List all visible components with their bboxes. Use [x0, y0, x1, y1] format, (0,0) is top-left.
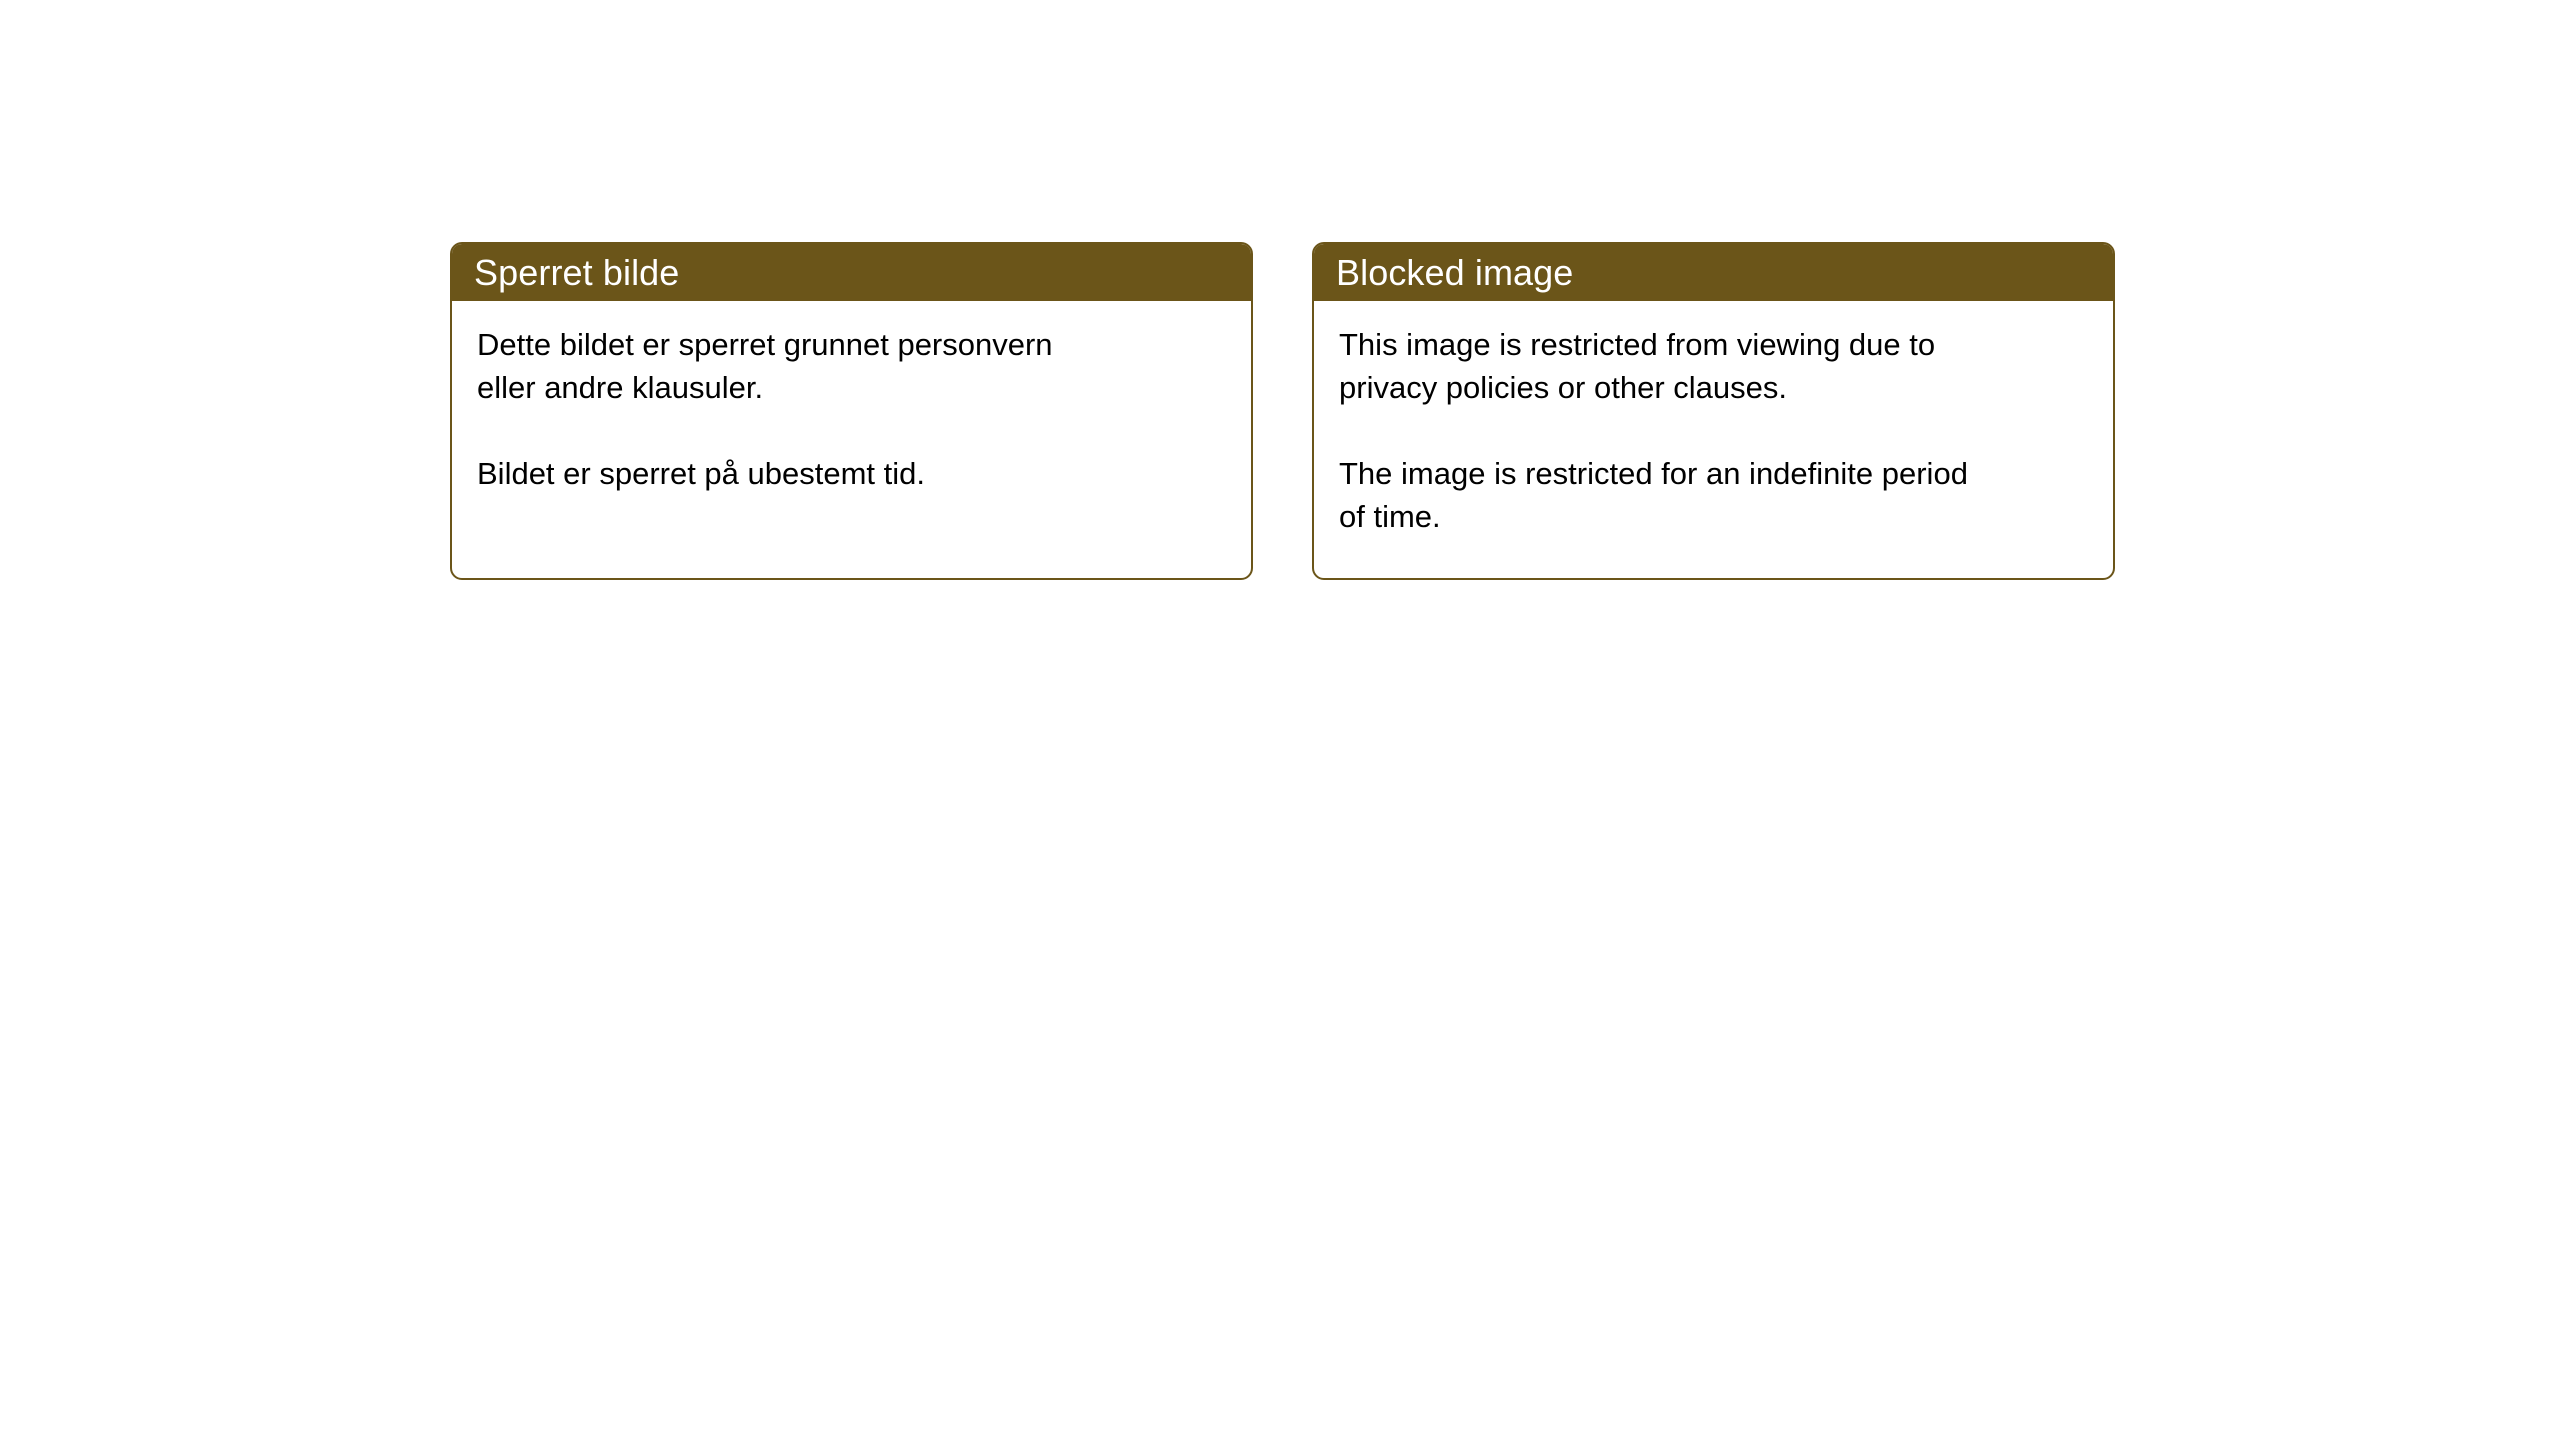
- paragraph-spacer-en: [1339, 409, 2087, 452]
- notice-title-no: Sperret bilde: [474, 255, 679, 291]
- paragraph-spacer-no: [477, 409, 1225, 452]
- page-canvas: Sperret bilde Dette bildet er sperret gr…: [0, 0, 2560, 1440]
- blocked-image-notice-no: Sperret bilde Dette bildet er sperret gr…: [450, 242, 1253, 580]
- notice-paragraph-duration-en: The image is restricted for an indefinit…: [1339, 452, 2087, 538]
- notice-body-no: Dette bildet er sperret grunnet personve…: [452, 301, 1251, 495]
- notice-paragraph-duration-no: Bildet er sperret på ubestemt tid.: [477, 452, 1225, 495]
- notice-body-en: This image is restricted from viewing du…: [1314, 301, 2113, 538]
- notice-title-en: Blocked image: [1336, 255, 1573, 291]
- notice-header-no: Sperret bilde: [450, 242, 1253, 301]
- notice-paragraph-reason-en: This image is restricted from viewing du…: [1339, 323, 2087, 409]
- notice-paragraph-reason-no: Dette bildet er sperret grunnet personve…: [477, 323, 1225, 409]
- blocked-image-notice-en: Blocked image This image is restricted f…: [1312, 242, 2115, 580]
- notice-header-en: Blocked image: [1312, 242, 2115, 301]
